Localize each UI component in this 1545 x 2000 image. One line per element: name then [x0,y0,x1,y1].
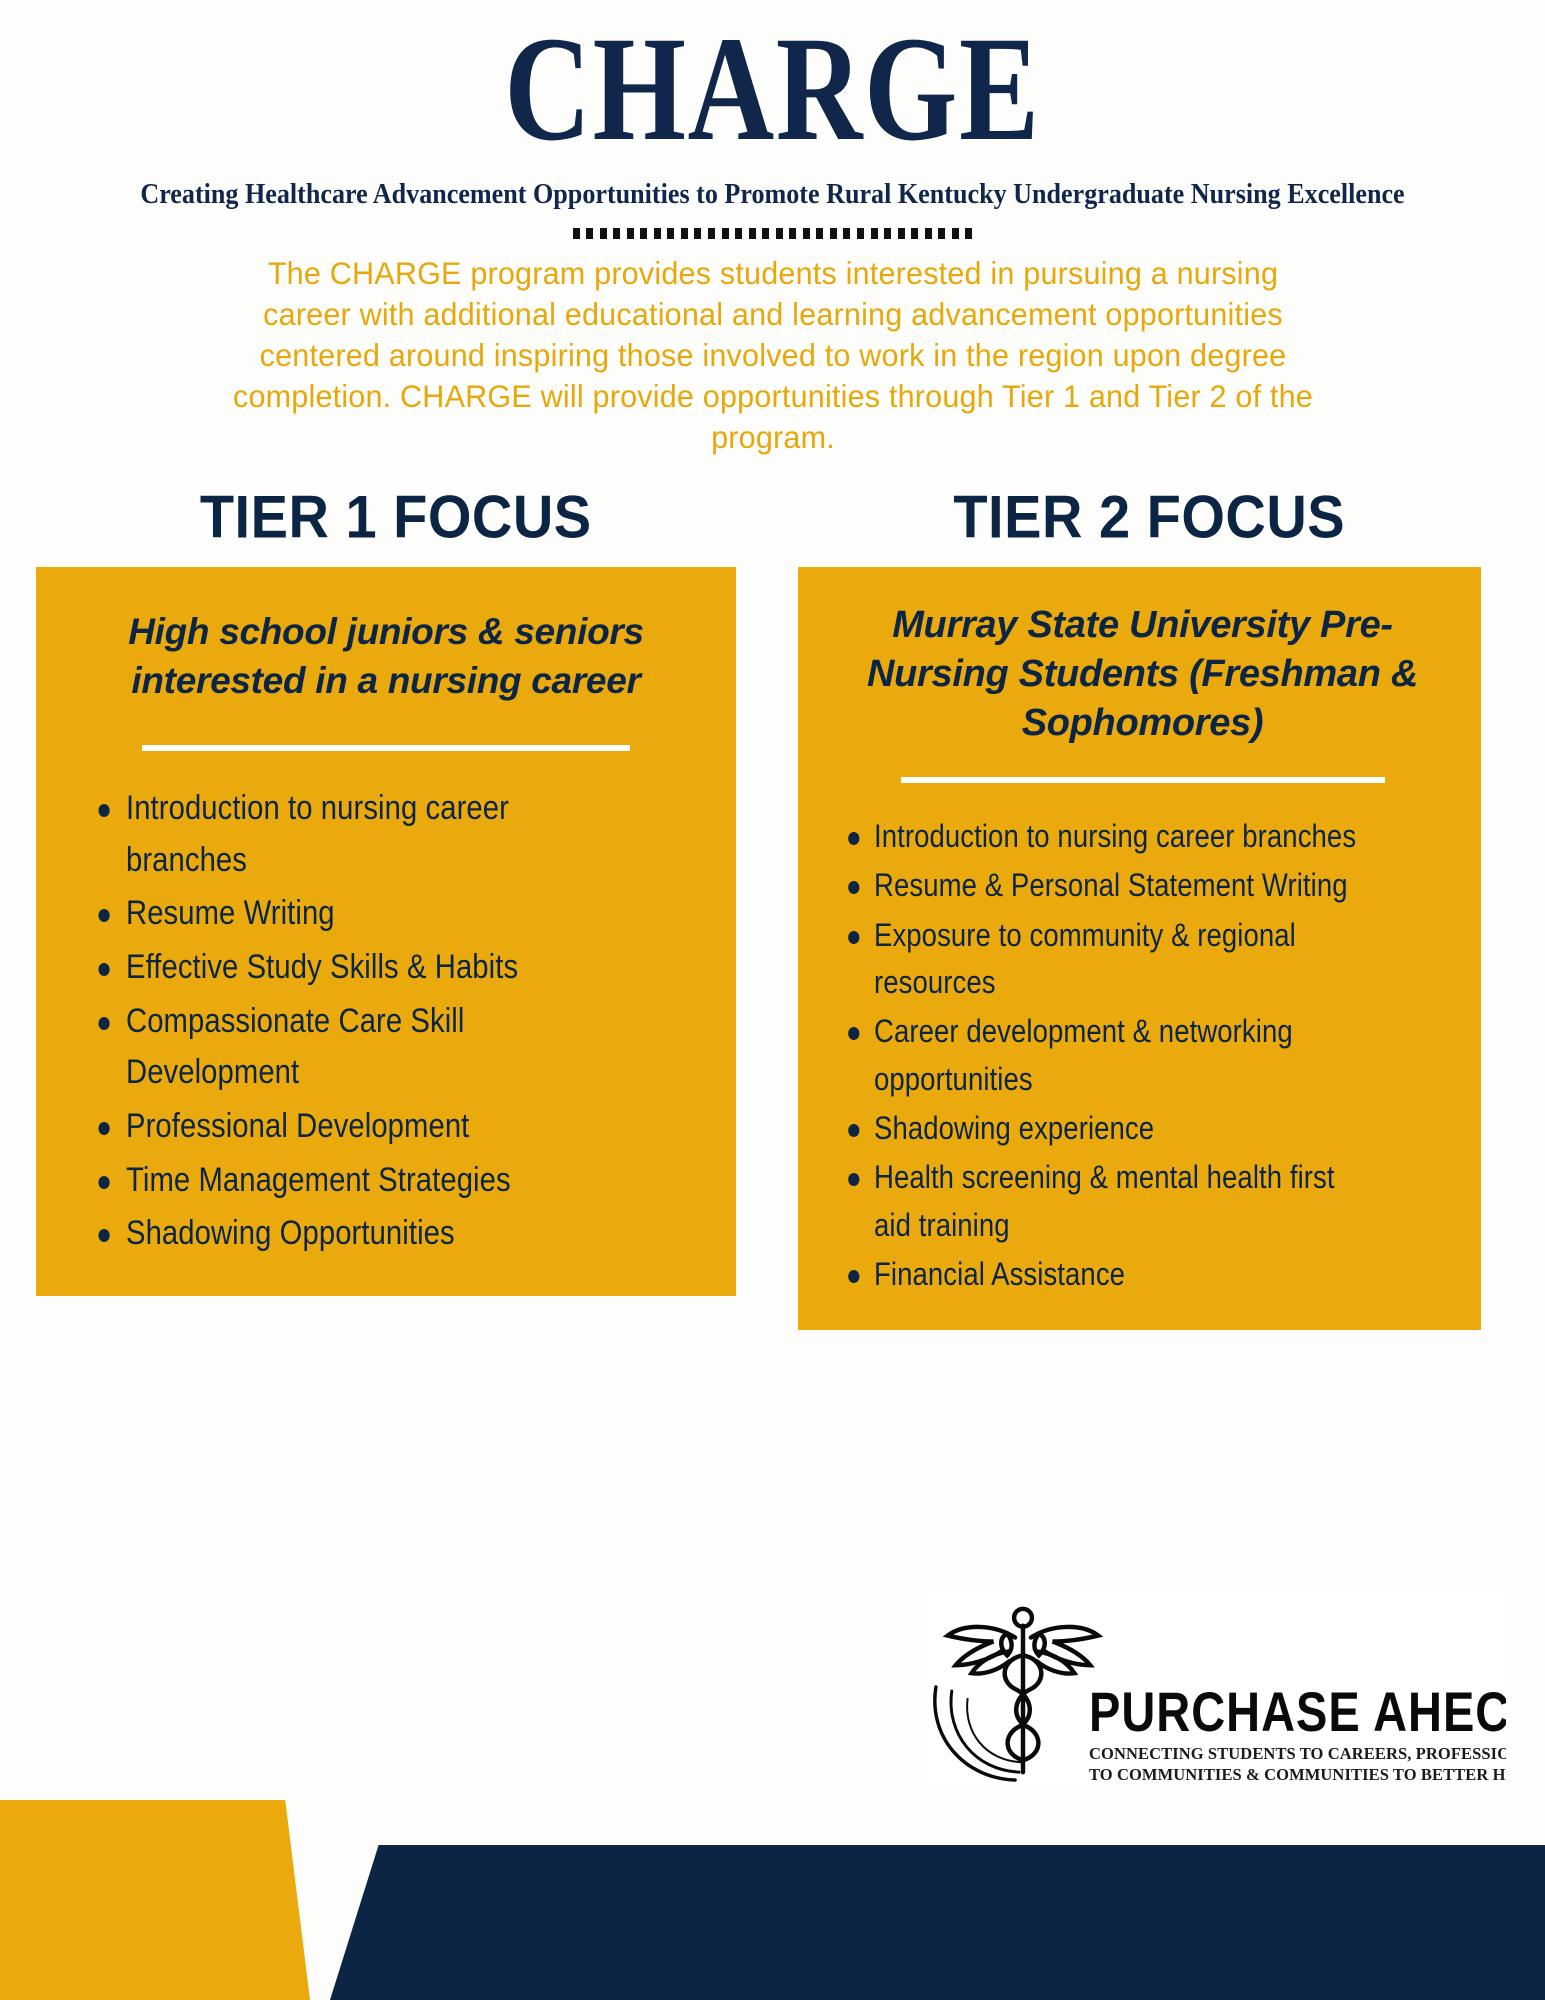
list-item: Shadowing experience [874,1105,1372,1152]
tier-1-divider [142,745,630,751]
tier-1-audience: High school juniors & seniors interested… [70,607,702,705]
tier-1-heading: TIER 1 FOCUS [36,481,756,551]
tier-1-list: Introduction to nursing career branches … [70,783,702,1260]
logo-tagline: CONNECTING STUDENTS TO CAREERS, PROFESSI… [1089,1743,1501,1785]
charge-program-flyer: CHARGE Creating Healthcare Advancement O… [0,0,1545,2000]
list-item: Financial Assistance [874,1251,1372,1298]
list-item: Professional Development [126,1101,621,1153]
tier-headings-row: TIER 1 FOCUS TIER 2 FOCUS [0,484,1545,549]
page-subtitle: Creating Healthcare Advancement Opportun… [77,164,1468,211]
logo-tagline-line-2: TO COMMUNITIES & COMMUNITIES TO BETTER H… [1089,1764,1501,1785]
tier-cards-row: High school juniors & seniors interested… [0,567,1545,1331]
footer-gold-shape [0,1800,310,2000]
footer-navy-shape [330,1845,1545,2000]
list-item: Health screening & mental health first a… [874,1154,1372,1249]
list-item: Introduction to nursing career branches [874,813,1372,860]
dotted-divider [573,227,973,239]
purchase-ahec-logo: PURCHASE AHEC CONNECTING STUDENTS TO CAR… [921,1588,1506,1786]
intro-paragraph: The CHARGE program provides students int… [224,253,1320,458]
tier-2-list: Introduction to nursing career branches … [832,813,1453,1299]
page-title: CHARGE [155,0,1391,164]
list-item: Resume & Personal Statement Writing [874,862,1372,909]
logo-wordmark: PURCHASE AHEC [1089,1684,1501,1739]
logo-tagline-line-1: CONNECTING STUDENTS TO CAREERS, PROFESSI… [1089,1743,1501,1764]
tier-2-divider [901,777,1385,783]
list-item: Resume Writing [126,888,621,940]
list-item: Shadowing Opportunities [126,1208,621,1260]
tier-2-audience: Murray State University Pre-Nursing Stud… [832,601,1453,749]
list-item: Effective Study Skills & Habits [126,942,621,994]
list-item: Compassionate Care Skill Development [126,996,621,1099]
list-item: Time Management Strategies [126,1155,621,1207]
tier-2-card: Murray State University Pre-Nursing Stud… [798,567,1481,1331]
list-item: Exposure to community & regional resourc… [874,912,1372,1007]
list-item: Career development & networking opportun… [874,1008,1372,1103]
list-item: Introduction to nursing career branches [126,783,621,886]
tier-1-card: High school juniors & seniors interested… [36,567,736,1296]
tier-2-heading: TIER 2 FOCUS [756,481,1510,551]
